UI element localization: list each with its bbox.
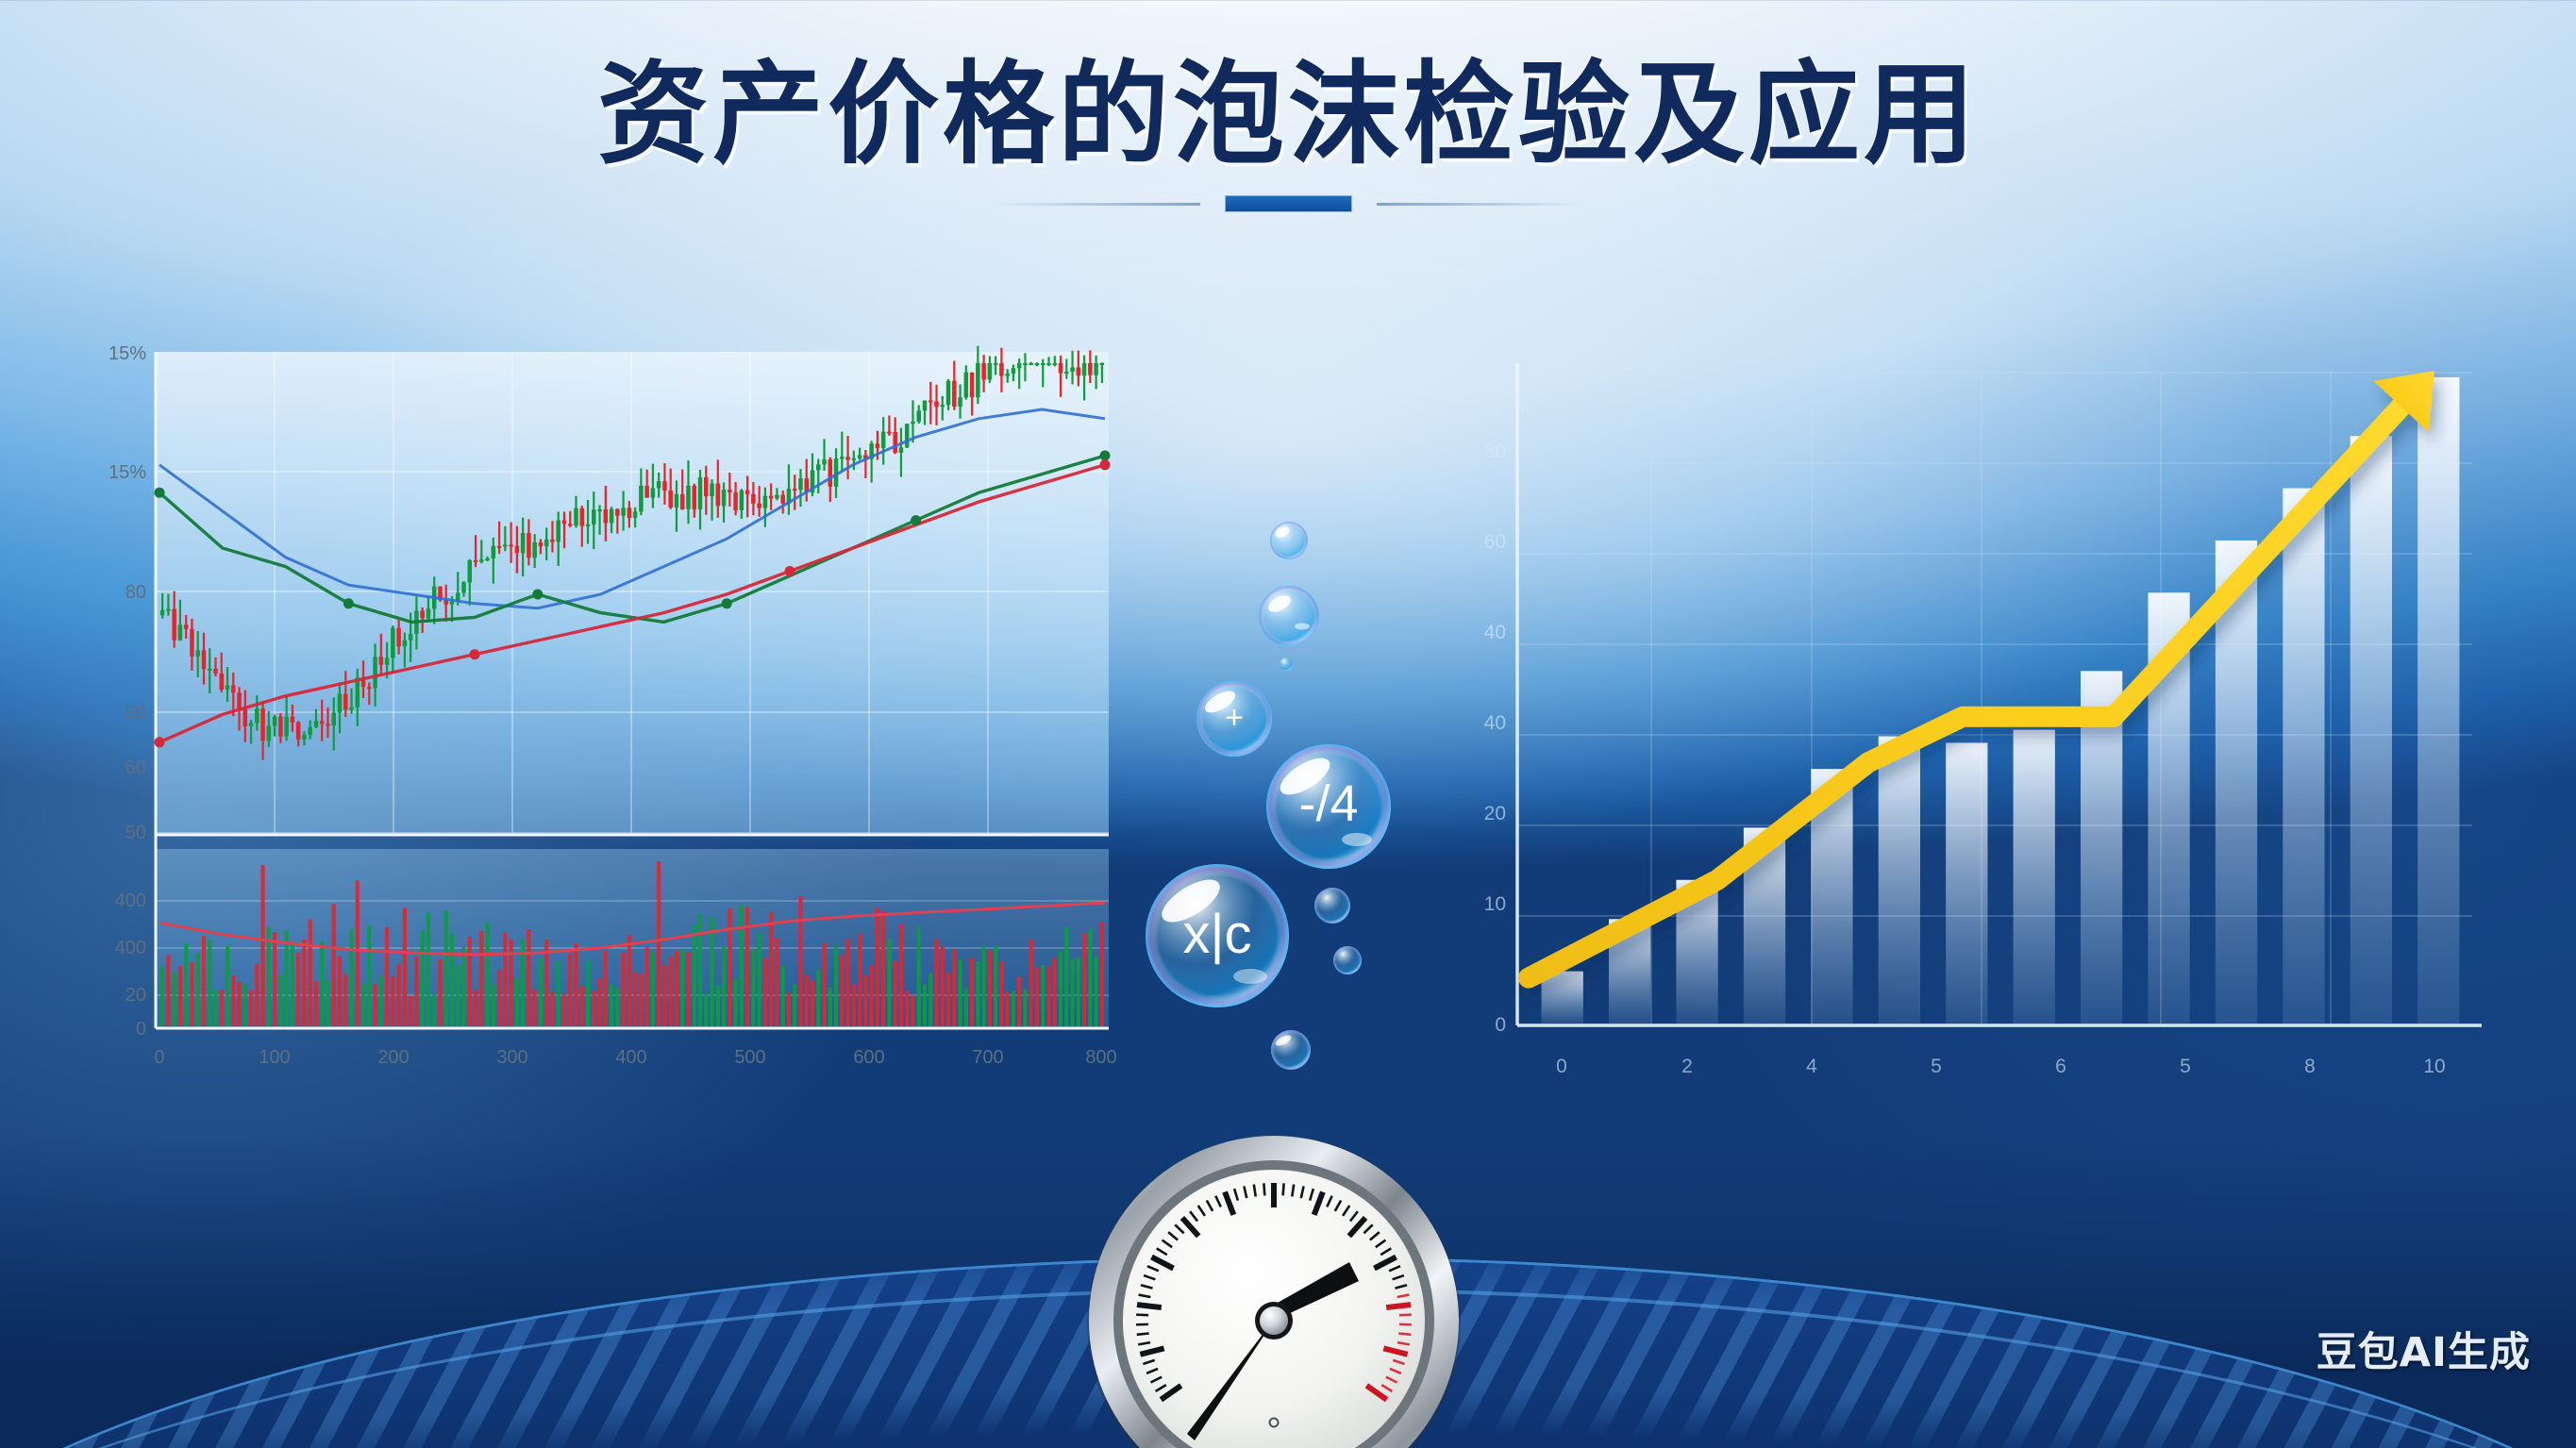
bubble-tiny-bottom — [1271, 1030, 1311, 1070]
volume-ytick-3: 0 — [136, 1019, 146, 1040]
price-ytick-0: 15% — [109, 343, 146, 364]
growth-bar-svg: 100 80 60 40 40 20 10 0 0 2 4 5 6 5 8 10 — [1415, 335, 2510, 1108]
bar-ytick-1: 80 — [1484, 441, 1506, 462]
candlestick-chart: 15% 15% 80 50 60 50 400 400 20 0 0 100 2… — [80, 335, 1128, 1090]
divider-rule-right — [1377, 203, 1584, 206]
bar-xtick-2: 4 — [1806, 1056, 1817, 1077]
price-xtick-8: 800 — [1085, 1047, 1116, 1068]
price-xtick-0: 0 — [154, 1047, 164, 1068]
bubble-small-upper — [1259, 586, 1319, 646]
price-ytick-1: 15% — [109, 462, 146, 483]
bubble-plus: + — [1196, 681, 1272, 757]
bar-xtick-3: 5 — [1931, 1056, 1942, 1077]
price-xtick-6: 600 — [853, 1047, 884, 1068]
page-title: 资产价格的泡沫检验及应用 — [0, 55, 2576, 175]
bubble-tiny-top — [1270, 522, 1308, 559]
pressure-gauge — [1076, 1123, 1472, 1448]
bubble-label-xc: x|c — [1182, 904, 1251, 965]
title-divider — [0, 195, 2576, 212]
bar-series — [1542, 377, 2460, 1024]
candlestick-svg: 15% 15% 80 50 60 50 400 400 20 0 0 100 2… — [80, 335, 1128, 1090]
price-ytick-3: 50 — [125, 703, 146, 724]
title-block: 资产价格的泡沫检验及应用 — [0, 55, 2576, 212]
bubble-cluster: + -/4 x|c — [1113, 509, 1425, 1113]
price-xtick-2: 200 — [377, 1047, 409, 1068]
bubble-label-plus: + — [1225, 700, 1244, 736]
price-plot-bg — [156, 352, 1109, 833]
price-ytick-5: 50 — [125, 823, 146, 843]
volume-ytick-0: 400 — [115, 890, 146, 911]
growth-bar-chart: 100 80 60 40 40 20 10 0 0 2 4 5 6 5 8 10 — [1415, 335, 2510, 1108]
bar-ytick-3: 40 — [1484, 622, 1506, 643]
price-ytick-2: 80 — [125, 582, 146, 603]
bar-xtick-7: 10 — [2423, 1056, 2445, 1077]
bubble-speck-b — [1314, 888, 1350, 924]
watermark-label: 豆包AI生成 — [2317, 1320, 2531, 1378]
bubble-speck-a — [1280, 657, 1293, 671]
bar-xtick-5: 5 — [2180, 1056, 2191, 1077]
bar-xtick-6: 8 — [2304, 1056, 2316, 1077]
bar-ytick-7: 0 — [1495, 1014, 1506, 1036]
bar-ytick-6: 10 — [1484, 893, 1506, 915]
price-xtick-7: 700 — [972, 1047, 1003, 1068]
bubble-speck-c — [1333, 946, 1362, 974]
price-xtick-1: 100 — [259, 1047, 290, 1068]
volume-ytick-2: 20 — [125, 985, 146, 1006]
bubble-xc: x|c — [1146, 864, 1289, 1007]
gauge-svg — [1076, 1123, 1472, 1448]
volume-ytick-1: 400 — [115, 938, 146, 958]
gauge-hub — [1260, 1307, 1288, 1335]
price-ytick-4: 60 — [125, 757, 146, 778]
bubble-label-minus-four: -/4 — [1298, 775, 1358, 832]
bar-xtick-4: 6 — [2055, 1056, 2066, 1077]
bar-xtick-1: 2 — [1681, 1056, 1693, 1077]
divider-bar — [1225, 195, 1352, 212]
bubble-minus-four: -/4 — [1266, 744, 1391, 869]
bar-ytick-4: 40 — [1484, 712, 1506, 734]
bar-ytick-0: 100 — [1473, 350, 1506, 372]
price-xtick-4: 400 — [615, 1047, 646, 1068]
bar-ytick-2: 60 — [1484, 531, 1506, 553]
bar-ytick-5: 20 — [1484, 803, 1506, 824]
price-xtick-3: 300 — [496, 1047, 527, 1068]
bar-xtick-0: 0 — [1556, 1056, 1567, 1077]
price-xtick-5: 500 — [734, 1047, 765, 1068]
divider-rule-left — [993, 203, 1200, 206]
bubbles-svg: + -/4 x|c — [1113, 509, 1425, 1113]
